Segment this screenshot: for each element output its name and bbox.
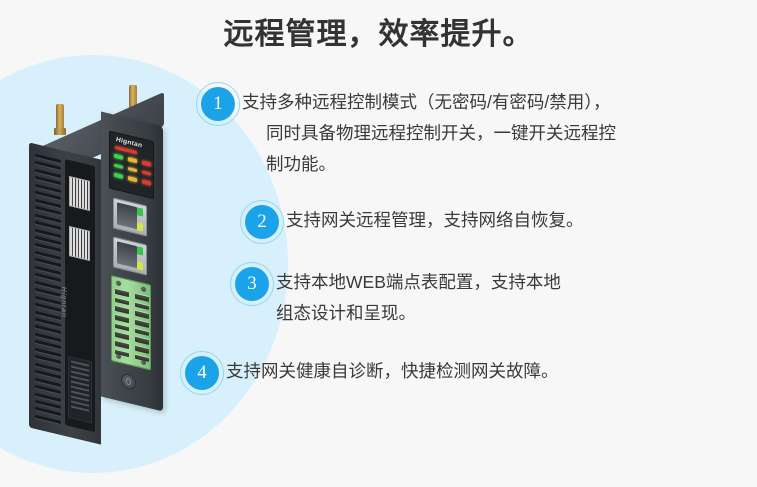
feature-line: 支持网关远程管理，支持网络自恢复。 bbox=[286, 205, 756, 236]
feature-item-2: 2 支持网关远程管理，支持网络自恢复。 bbox=[240, 200, 756, 246]
spec-label-sticker bbox=[68, 356, 92, 424]
feature-line: 支持本地WEB端点表配置，支持本地 bbox=[276, 267, 756, 298]
page-title: 远程管理，效率提升。 bbox=[0, 9, 757, 53]
feature-text-1: 支持多种远程控制模式（无密码/有密码/禁用）， 同时具备物理远程控制开关，一键开… bbox=[242, 82, 756, 180]
screw-icon bbox=[141, 286, 146, 292]
led-red-icon bbox=[142, 160, 151, 166]
led-green-icon bbox=[114, 154, 123, 160]
qr-code-sticker-bottom bbox=[69, 226, 90, 261]
device-label-strip: Higntan bbox=[65, 159, 95, 432]
feature-text-3: 支持本地WEB端点表配置，支持本地 组态设计和呈现。 bbox=[276, 262, 756, 329]
feature-item-4: 4 支持网关健康自诊断，快捷检测网关故障。 bbox=[180, 351, 756, 397]
led-green-icon bbox=[114, 163, 123, 169]
led-green-icon bbox=[114, 173, 123, 179]
badge-number: 2 bbox=[245, 205, 279, 239]
led-rows bbox=[114, 154, 151, 191]
feature-line: 同时具备物理远程控制开关，一键开关远程控 bbox=[242, 118, 756, 149]
feature-line: 制功能。 bbox=[242, 149, 756, 180]
feature-badge-3: 3 bbox=[230, 262, 276, 308]
ethernet-port-2 bbox=[113, 236, 147, 275]
device-side-face: Higntan bbox=[29, 142, 101, 444]
power-button bbox=[121, 372, 136, 391]
qr-code-sticker-top bbox=[69, 176, 90, 211]
terminal-rows bbox=[115, 288, 149, 366]
feature-badge-2: 2 bbox=[240, 200, 286, 246]
badge-number: 3 bbox=[235, 267, 269, 301]
badge-number: 1 bbox=[201, 87, 235, 121]
feature-item-3: 3 支持本地WEB端点表配置，支持本地 组态设计和呈现。 bbox=[230, 262, 756, 329]
green-terminal-block bbox=[111, 275, 151, 371]
feature-line: 支持多种远程控制模式（无密码/有密码/禁用）， bbox=[242, 87, 756, 118]
feature-item-1: 1 支持多种远程控制模式（无密码/有密码/禁用）， 同时具备物理远程控制开关，一… bbox=[196, 82, 756, 180]
ethernet-port-1 bbox=[113, 197, 147, 236]
led-yellow-icon bbox=[128, 157, 137, 163]
led-red-icon bbox=[142, 170, 151, 176]
led-yellow-icon bbox=[128, 167, 137, 173]
led-red-icon bbox=[142, 179, 151, 185]
port-led-green-icon bbox=[137, 207, 143, 216]
port-led-yellow-icon bbox=[137, 261, 143, 270]
feature-text-2: 支持网关远程管理，支持网络自恢复。 bbox=[286, 200, 756, 236]
port-led-yellow-icon bbox=[137, 222, 143, 231]
feature-list: 1 支持多种远程控制模式（无密码/有密码/禁用）， 同时具备物理远程控制开关，一… bbox=[196, 82, 756, 397]
feature-text-4: 支持网关健康自诊断，快捷检测网关故障。 bbox=[226, 351, 756, 387]
promo-banner: 远程管理，效率提升。 Higntan bbox=[0, 0, 757, 487]
device-front-panel: Higntan bbox=[101, 112, 163, 412]
feature-badge-4: 4 bbox=[180, 351, 226, 397]
antenna-connector-left bbox=[56, 104, 64, 130]
led-yellow-icon bbox=[128, 176, 137, 182]
feature-badge-1: 1 bbox=[196, 82, 242, 128]
badge-number: 4 bbox=[185, 356, 219, 390]
led-indicator-panel: Higntan bbox=[109, 130, 154, 199]
port-led-green-icon bbox=[137, 246, 143, 255]
screw-icon bbox=[116, 280, 121, 286]
led-row bbox=[114, 173, 151, 185]
feature-line: 组态设计和呈现。 bbox=[276, 298, 756, 329]
feature-line: 支持网关健康自诊断，快捷检测网关故障。 bbox=[226, 356, 756, 387]
